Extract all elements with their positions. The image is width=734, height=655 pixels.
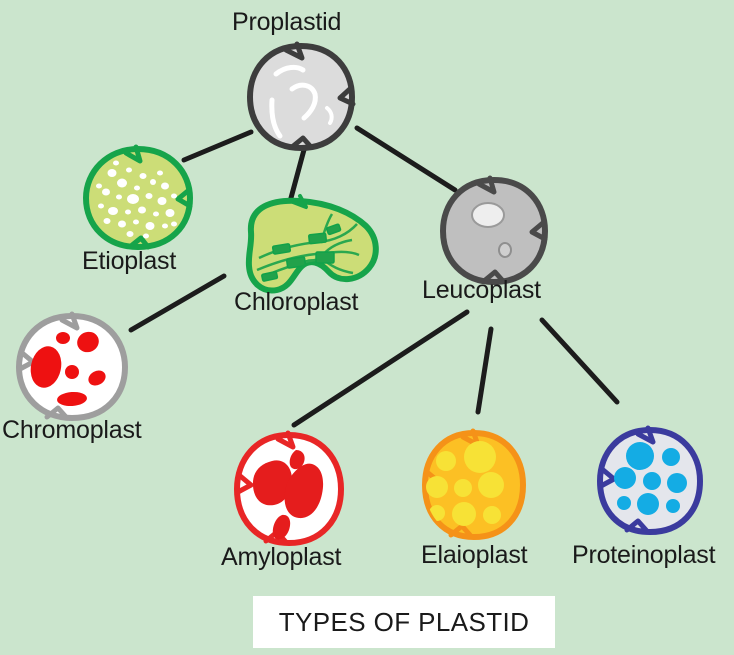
organelle-elaioplast[interactable] xyxy=(425,431,523,537)
label-leucoplast: Leucoplast xyxy=(422,276,541,304)
diagram-title-text: TYPES OF PLASTID xyxy=(279,607,530,638)
organelle-proteinoplast[interactable] xyxy=(600,428,700,532)
edge-leucoplast-elaioplast xyxy=(478,329,491,412)
plastid-diagram-canvas: Proplastid Etioplast Chloroplast Leucopl… xyxy=(0,0,734,655)
leucoplast-membrane xyxy=(443,180,545,282)
label-proplastid: Proplastid xyxy=(232,8,341,36)
proplastid-membrane xyxy=(250,46,352,148)
organelle-etioplast[interactable] xyxy=(86,147,190,247)
edge-etioplast-chromoplast xyxy=(131,276,224,330)
organelle-chloroplast[interactable] xyxy=(249,196,376,290)
edge-leucoplast-proteinoplast xyxy=(542,320,617,402)
label-chloroplast: Chloroplast xyxy=(234,288,358,316)
organelle-leucoplast[interactable] xyxy=(443,178,545,282)
organelle-chromoplast[interactable] xyxy=(19,314,125,418)
edge-proplastid-leucoplast xyxy=(357,128,455,190)
edge-proplastid-etioplast xyxy=(184,132,251,160)
label-elaioplast: Elaioplast xyxy=(421,541,527,569)
organelle-amyloplast[interactable] xyxy=(237,433,341,543)
label-amyloplast: Amyloplast xyxy=(221,543,341,571)
diagram-title-plate: TYPES OF PLASTID xyxy=(253,596,555,648)
organelle-proplastid[interactable] xyxy=(250,44,353,148)
label-chromoplast: Chromoplast xyxy=(2,416,142,444)
label-proteinoplast: Proteinoplast xyxy=(572,541,715,569)
label-etioplast: Etioplast xyxy=(82,247,176,275)
edge-leucoplast-amyloplast xyxy=(294,312,467,425)
